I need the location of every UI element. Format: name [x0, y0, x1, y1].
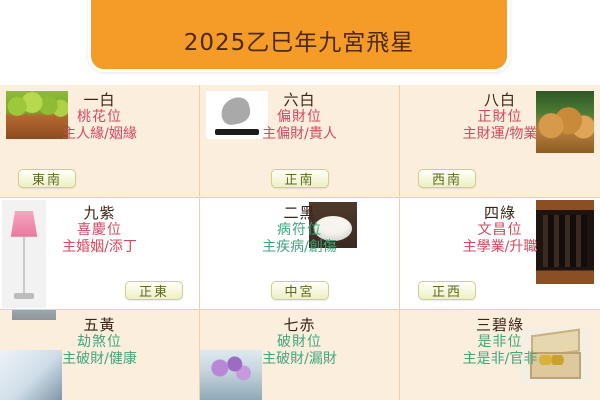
direction-badge[interactable]: 中宮 [271, 281, 329, 300]
position-description: 主疾病/創傷 [200, 239, 399, 256]
grid-cell-southeast[interactable]: 一白 桃花位 主人緣/姻緣 東南 [0, 85, 200, 198]
horse-statue-image [206, 91, 268, 139]
page-title: 2025乙巳年九宮飛星 [184, 23, 415, 69]
direction-badge[interactable]: 正西 [418, 281, 476, 300]
grid-cell-southwest[interactable]: 八白 正財位 主財運/物業 西南 [400, 85, 600, 198]
direction-badge[interactable]: 東南 [18, 169, 76, 188]
grid-cell-east[interactable]: 九紫 喜慶位 主婚姻/添丁 正東 [0, 198, 200, 310]
treasure-box-image [520, 328, 590, 384]
flying-star-grid: 一白 桃花位 主人緣/姻緣 東南 六白 偏財位 主偏財/貴人 正南 八白 正財位… [0, 85, 600, 400]
grid-cell-center[interactable]: 二黑 病符位 主疾病/創傷 中宮 [200, 198, 400, 310]
potted-plants-image [6, 91, 68, 139]
grid-cell-west[interactable]: 四綠 文昌位 主學業/升職 正西 [400, 198, 600, 310]
position-name: 破財位 [200, 334, 399, 351]
grey-partial-image [12, 310, 56, 320]
cell-text-block: 二黑 病符位 主疾病/創傷 [200, 204, 399, 256]
star-name: 七赤 [200, 316, 399, 334]
position-name: 劫煞位 [0, 334, 199, 351]
direction-badge[interactable]: 正南 [271, 169, 329, 188]
grid-cell-south[interactable]: 六白 偏財位 主偏財/貴人 正南 [200, 85, 400, 198]
position-name: 病符位 [200, 222, 399, 239]
flower-vase-image [200, 350, 262, 400]
salt-bowl-image [309, 202, 357, 248]
grid-cell-northeast[interactable]: 五黃 劫煞位 主破財/健康 [0, 310, 200, 400]
grid-cell-northwest[interactable]: 三碧綠 是非位 主是非/官非 [400, 310, 600, 400]
star-name: 二黑 [200, 204, 399, 222]
brush-rack-image [536, 200, 594, 284]
direction-badge[interactable]: 正東 [125, 281, 183, 300]
direction-badge[interactable]: 西南 [418, 169, 476, 188]
pink-lamp-image [2, 200, 46, 308]
blue-white-partial-image [0, 350, 62, 400]
wooden-figurine-image [536, 91, 594, 153]
feng-shui-flying-star-chart: 2025乙巳年九宮飛星 一白 桃花位 主人緣/姻緣 東南 六白 偏財位 主偏財/… [0, 0, 600, 400]
grid-cell-north[interactable]: 七赤 破財位 主破財/漏財 [200, 310, 400, 400]
title-banner: 2025乙巳年九宮飛星 [88, 0, 510, 72]
